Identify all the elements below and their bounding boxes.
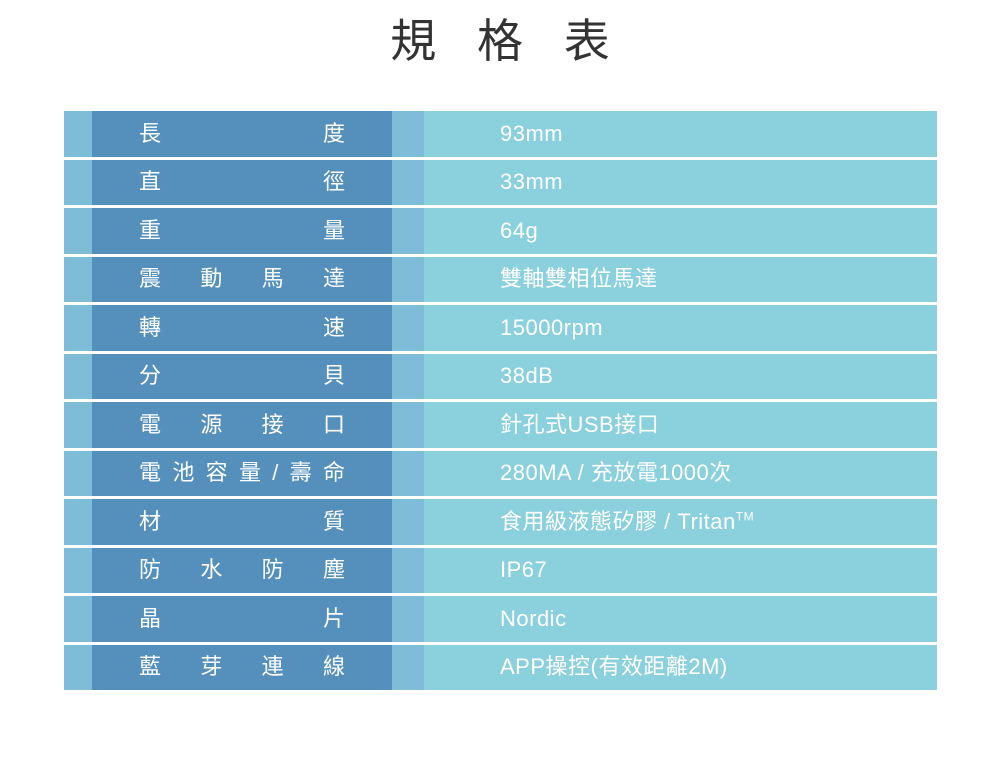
table-row: 長度 93mm (64, 111, 937, 157)
row-divider-strip (392, 645, 424, 691)
row-value-text: 雙軸雙相位馬達 (500, 268, 658, 290)
row-value-cell: APP操控(有效距離2M) (424, 645, 937, 691)
row-accent-strip (64, 208, 92, 254)
row-divider-strip (392, 208, 424, 254)
table-row: 震動馬達 雙軸雙相位馬達 (64, 257, 937, 303)
table-row: 轉速 15000rpm (64, 305, 937, 351)
row-label-text: 材質 (139, 511, 345, 533)
table-row: 防水防塵 IP67 (64, 548, 937, 594)
row-accent-strip (64, 257, 92, 303)
row-value-text: 93mm (500, 123, 563, 145)
row-accent-strip (64, 160, 92, 206)
trademark-superscript: TM (736, 509, 754, 523)
row-label-text: 直徑 (139, 171, 345, 193)
row-label-text: 電池容量/壽命 (139, 462, 345, 484)
row-label-cell: 轉速 (92, 305, 392, 351)
row-label-cell: 電源接口 (92, 402, 392, 448)
row-label-cell: 重量 (92, 208, 392, 254)
row-accent-strip (64, 111, 92, 157)
row-value-text-main: 食用級液態矽膠 / Tritan (500, 509, 736, 534)
table-row: 材質 食用級液態矽膠 / TritanTM (64, 499, 937, 545)
row-divider-strip (392, 305, 424, 351)
row-label-text: 防水防塵 (139, 559, 345, 581)
row-divider-strip (392, 402, 424, 448)
row-accent-strip (64, 354, 92, 400)
page-title: 規 格 表 (0, 8, 1000, 75)
table-row: 電源接口 針孔式USB接口 (64, 402, 937, 448)
spec-sheet-page: 規 格 表 長度 93mm 直徑 33mm 重量 (0, 0, 1000, 757)
row-divider-strip (392, 451, 424, 497)
row-label-text: 晶片 (139, 608, 345, 630)
row-value-cell: 38dB (424, 354, 937, 400)
row-label-cell: 防水防塵 (92, 548, 392, 594)
row-label-cell: 晶片 (92, 596, 392, 642)
row-label-cell: 材質 (92, 499, 392, 545)
row-value-cell: 針孔式USB接口 (424, 402, 937, 448)
row-label-cell: 長度 (92, 111, 392, 157)
row-value-cell: 食用級液態矽膠 / TritanTM (424, 499, 937, 545)
row-label-text: 電源接口 (139, 414, 345, 436)
row-value-text: Nordic (500, 608, 567, 630)
row-value-cell: 33mm (424, 160, 937, 206)
table-row: 藍芽連線 APP操控(有效距離2M) (64, 645, 937, 691)
row-value-cell: 280MA / 充放電1000次 (424, 451, 937, 497)
row-value-cell: Nordic (424, 596, 937, 642)
row-value-text: 33mm (500, 171, 563, 193)
table-row: 分貝 38dB (64, 354, 937, 400)
table-row: 晶片 Nordic (64, 596, 937, 642)
row-divider-strip (392, 596, 424, 642)
row-label-cell: 藍芽連線 (92, 645, 392, 691)
row-value-cell: 雙軸雙相位馬達 (424, 257, 937, 303)
row-accent-strip (64, 451, 92, 497)
row-accent-strip (64, 596, 92, 642)
row-label-text: 分貝 (139, 365, 345, 387)
row-accent-strip (64, 305, 92, 351)
row-divider-strip (392, 257, 424, 303)
row-divider-strip (392, 548, 424, 594)
row-label-text: 重量 (139, 220, 345, 242)
row-value-cell: 93mm (424, 111, 937, 157)
row-accent-strip (64, 402, 92, 448)
row-accent-strip (64, 645, 92, 691)
row-accent-strip (64, 499, 92, 545)
row-label-text: 藍芽連線 (139, 656, 345, 678)
row-value-cell: 64g (424, 208, 937, 254)
table-row: 電池容量/壽命 280MA / 充放電1000次 (64, 451, 937, 497)
row-label-cell: 分貝 (92, 354, 392, 400)
row-accent-strip (64, 548, 92, 594)
row-label-cell: 電池容量/壽命 (92, 451, 392, 497)
row-divider-strip (392, 111, 424, 157)
row-value-text: 64g (500, 220, 538, 242)
row-value-text: IP67 (500, 559, 547, 581)
row-value-text: 280MA / 充放電1000次 (500, 462, 732, 484)
row-divider-strip (392, 160, 424, 206)
specification-table: 長度 93mm 直徑 33mm 重量 64g (64, 111, 937, 690)
row-value-cell: IP67 (424, 548, 937, 594)
row-label-text: 轉速 (139, 317, 345, 339)
row-label-text: 震動馬達 (139, 268, 345, 290)
row-label-cell: 震動馬達 (92, 257, 392, 303)
row-value-text: APP操控(有效距離2M) (500, 656, 728, 678)
row-value-text: 食用級液態矽膠 / TritanTM (500, 511, 754, 533)
row-divider-strip (392, 354, 424, 400)
row-label-cell: 直徑 (92, 160, 392, 206)
row-value-text: 15000rpm (500, 317, 603, 339)
row-divider-strip (392, 499, 424, 545)
row-value-text: 38dB (500, 365, 553, 387)
row-value-cell: 15000rpm (424, 305, 937, 351)
row-value-text: 針孔式USB接口 (500, 414, 659, 436)
table-row: 直徑 33mm (64, 160, 937, 206)
row-label-text: 長度 (139, 123, 345, 145)
table-row: 重量 64g (64, 208, 937, 254)
